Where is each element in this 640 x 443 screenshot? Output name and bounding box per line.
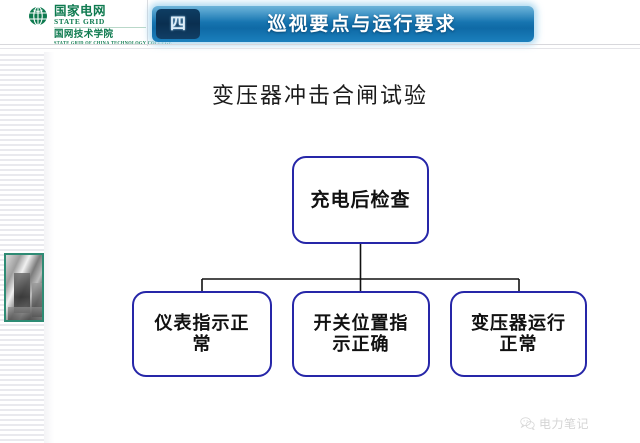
diagram-node-transformer-operation-label: 变压器运行 正常 <box>465 313 572 355</box>
diagram-node-instrument-label: 仪表指示正 常 <box>149 313 256 355</box>
node-a-line2: 常 <box>155 334 250 355</box>
section-title-bar: 四 巡视要点与运行要求 <box>152 6 534 42</box>
node-a-line1: 仪表指示正 <box>155 313 250 334</box>
diagram-node-instrument[interactable]: 仪表指示正 常 <box>132 291 272 377</box>
section-title-wrap: 巡视要点与运行要求 <box>152 6 534 42</box>
node-b-line2: 示正确 <box>314 334 409 355</box>
node-c-line1: 变压器运行 <box>471 313 566 334</box>
wechat-icon <box>520 417 535 430</box>
diagram-node-root-label: 充电后检查 <box>310 189 410 211</box>
diagram-node-root[interactable]: 充电后检查 <box>292 156 429 244</box>
watermark-text: 电力笔记 <box>539 415 589 432</box>
node-b-line1: 开关位置指 <box>314 313 409 334</box>
diagram-node-transformer-operation[interactable]: 变压器运行 正常 <box>450 291 587 377</box>
slide-canvas: 国家电网 STATE GRID 国网技术学院 STATE GRID OF CHI… <box>0 0 640 443</box>
diagram-node-switch-position-label: 开关位置指 示正确 <box>308 313 415 355</box>
section-title-text: 巡视要点与运行要求 <box>267 15 456 34</box>
node-c-line2: 正常 <box>471 334 566 355</box>
watermark: 电力笔记 <box>520 415 589 432</box>
diagram-node-switch-position[interactable]: 开关位置指 示正确 <box>292 291 430 377</box>
